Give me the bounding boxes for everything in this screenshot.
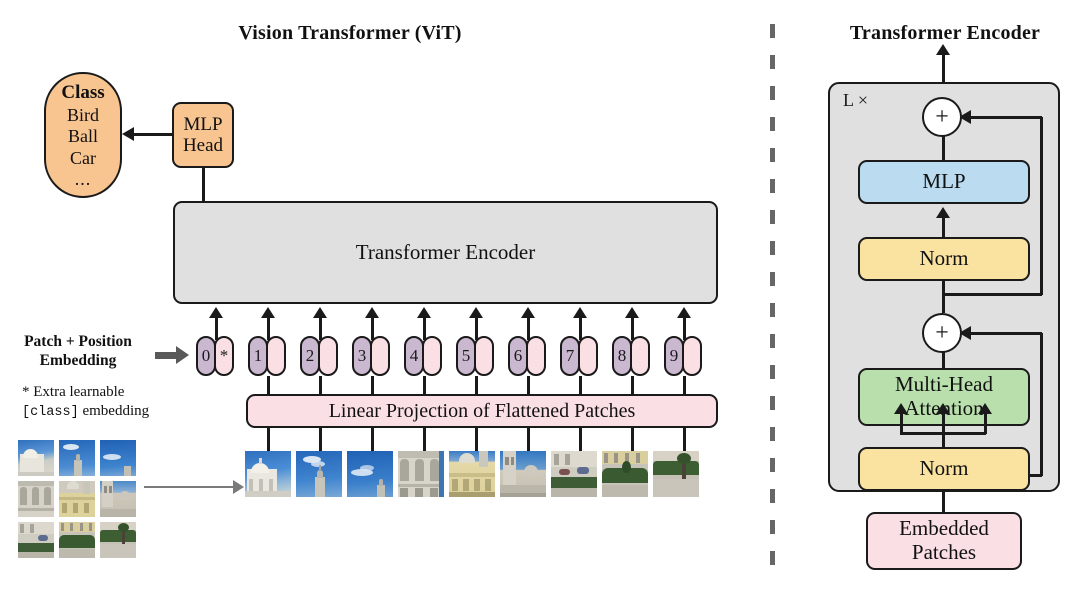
source-image-patch-grid — [18, 440, 136, 558]
token-1[interactable]: 1 — [248, 336, 286, 376]
token-8-position-pill: 8 — [612, 336, 632, 376]
transformer-encoder-label: Transformer Encoder — [356, 241, 535, 265]
token-7[interactable]: 7 — [560, 336, 598, 376]
token-6-patch-pill — [526, 336, 546, 376]
token-7-patch-pill — [578, 336, 598, 376]
token-2-patch-pill — [318, 336, 338, 376]
residual-bottom-h-upper — [970, 332, 1042, 335]
source-patch-r1c3 — [100, 440, 136, 476]
encoder-to-mlp-head-line — [202, 167, 205, 202]
token-6-position-pill: 6 — [508, 336, 528, 376]
token-9[interactable]: 9 — [664, 336, 702, 376]
mlp-block-label: MLP — [922, 170, 965, 194]
flattened-patch-5 — [449, 451, 495, 497]
class-item-car: Car — [70, 148, 96, 170]
token-6[interactable]: 6 — [508, 336, 546, 376]
class-ellipsis: ... — [75, 170, 92, 188]
source-patch-r3c3 — [100, 522, 136, 558]
source-patch-r1c1 — [18, 440, 54, 476]
token-4-position-pill: 4 — [404, 336, 424, 376]
source-patch-r2c1 — [18, 481, 54, 517]
token-7-position-pill: 7 — [560, 336, 580, 376]
class-embedding-footnote: * Extra learnable [class] embedding — [22, 383, 202, 421]
token-0[interactable]: 0 * — [196, 336, 234, 376]
mlp-to-class-line — [130, 133, 172, 136]
flattened-patch-2 — [296, 451, 342, 497]
add-bottom-to-norm-top-line — [942, 280, 945, 313]
mlp-head-line1: MLP — [183, 114, 222, 135]
embedding-label-arrow-head — [176, 346, 189, 364]
token-5-patch-pill — [474, 336, 494, 376]
token-0-patch-pill: * — [214, 336, 234, 376]
token-4-patch-pill — [422, 336, 442, 376]
embedded-patches-block: Embedded Patches — [866, 512, 1022, 570]
vit-architecture-figure: Vision Transformer (ViT) Class Bird Ball… — [0, 0, 1080, 593]
token-5-position-pill: 5 — [456, 336, 476, 376]
norm-top-to-mlp-arrowhead — [936, 207, 950, 218]
embedding-label-line2: Embedding — [8, 352, 148, 371]
encoder-output-arrowhead — [936, 44, 950, 55]
residual-add-top-symbol: + — [935, 105, 949, 129]
mlp-to-add-line — [942, 136, 945, 162]
token-1-position-pill: 1 — [248, 336, 268, 376]
token-3-patch-pill — [370, 336, 390, 376]
embedded-to-norm-line — [942, 490, 945, 513]
norm-top-block: Norm — [858, 237, 1030, 281]
attention-block-line1: Multi-Head — [895, 373, 993, 397]
class-item-bird: Bird — [67, 105, 99, 127]
mlp-block: MLP — [858, 160, 1030, 204]
left-panel-title: Vision Transformer (ViT) — [180, 22, 520, 45]
footnote-line2: [class] embedding — [22, 402, 202, 421]
panel-divider — [770, 24, 775, 572]
flattened-patch-3 — [347, 451, 393, 497]
source-patch-r2c3 — [100, 481, 136, 517]
flattened-patch-9 — [653, 451, 699, 497]
token-4[interactable]: 4 — [404, 336, 442, 376]
token-9-position-pill: 9 — [664, 336, 684, 376]
token-8[interactable]: 8 — [612, 336, 650, 376]
mlp-head-box: MLP Head — [172, 102, 234, 168]
source-patch-r2c2 — [59, 481, 95, 517]
residual-top-h-upper — [970, 116, 1042, 119]
residual-add-bottom-symbol: + — [935, 321, 949, 345]
embedding-label-line1: Patch + Position — [8, 333, 148, 352]
footnote-line2-tail: embedding — [79, 403, 149, 419]
token-3-position-pill: 3 — [352, 336, 372, 376]
token-2[interactable]: 2 — [300, 336, 338, 376]
transformer-encoder-box: Transformer Encoder — [173, 201, 718, 304]
footnote-line1: * Extra learnable — [22, 383, 202, 402]
source-patch-r1c2 — [59, 440, 95, 476]
embedded-patches-line1: Embedded — [899, 517, 989, 541]
source-patch-r3c1 — [18, 522, 54, 558]
mlp-head-line2: Head — [183, 135, 223, 156]
norm-bottom-block: Norm — [858, 447, 1030, 491]
linear-projection-label: Linear Projection of Flattened Patches — [329, 400, 636, 422]
flattened-patch-7 — [551, 451, 597, 497]
right-panel-title: Transformer Encoder — [820, 22, 1070, 45]
residual-top-h-lower — [942, 293, 1042, 296]
residual-add-bottom: + — [922, 313, 962, 353]
class-token-code: [class] — [22, 405, 79, 420]
class-output-box: Class Bird Ball Car ... — [44, 72, 122, 198]
token-1-patch-pill — [266, 336, 286, 376]
embedded-patches-line2: Patches — [912, 541, 976, 565]
patch-position-embedding-label: Patch + Position Embedding — [8, 333, 148, 371]
flattened-patch-6 — [500, 451, 546, 497]
encoder-output-line — [942, 52, 945, 84]
flattened-patch-8 — [602, 451, 648, 497]
grid-to-strip-arrow-shaft — [144, 486, 234, 488]
mlp-to-class-arrowhead — [122, 127, 134, 141]
flattened-patch-4 — [398, 451, 444, 497]
class-item-ball: Ball — [68, 126, 98, 148]
norm-top-block-label: Norm — [920, 247, 969, 271]
token-3[interactable]: 3 — [352, 336, 390, 376]
embedding-label-arrow-shaft — [155, 352, 177, 359]
token-0-position-pill: 0 — [196, 336, 216, 376]
token-8-patch-pill — [630, 336, 650, 376]
residual-add-top: + — [922, 97, 962, 137]
flattened-patch-1 — [245, 451, 291, 497]
grid-to-strip-arrow-head — [233, 480, 244, 494]
source-patch-r3c2 — [59, 522, 95, 558]
residual-top-v — [1040, 117, 1043, 295]
norm-top-to-mlp-line — [942, 218, 945, 238]
class-heading: Class — [61, 82, 104, 104]
repeat-count-label: L × — [843, 90, 868, 111]
token-5[interactable]: 5 — [456, 336, 494, 376]
token-9-patch-pill — [682, 336, 702, 376]
token-2-position-pill: 2 — [300, 336, 320, 376]
norm-bottom-block-label: Norm — [920, 457, 969, 481]
linear-projection-box: Linear Projection of Flattened Patches — [246, 394, 718, 428]
residual-bottom-v — [1040, 333, 1043, 476]
